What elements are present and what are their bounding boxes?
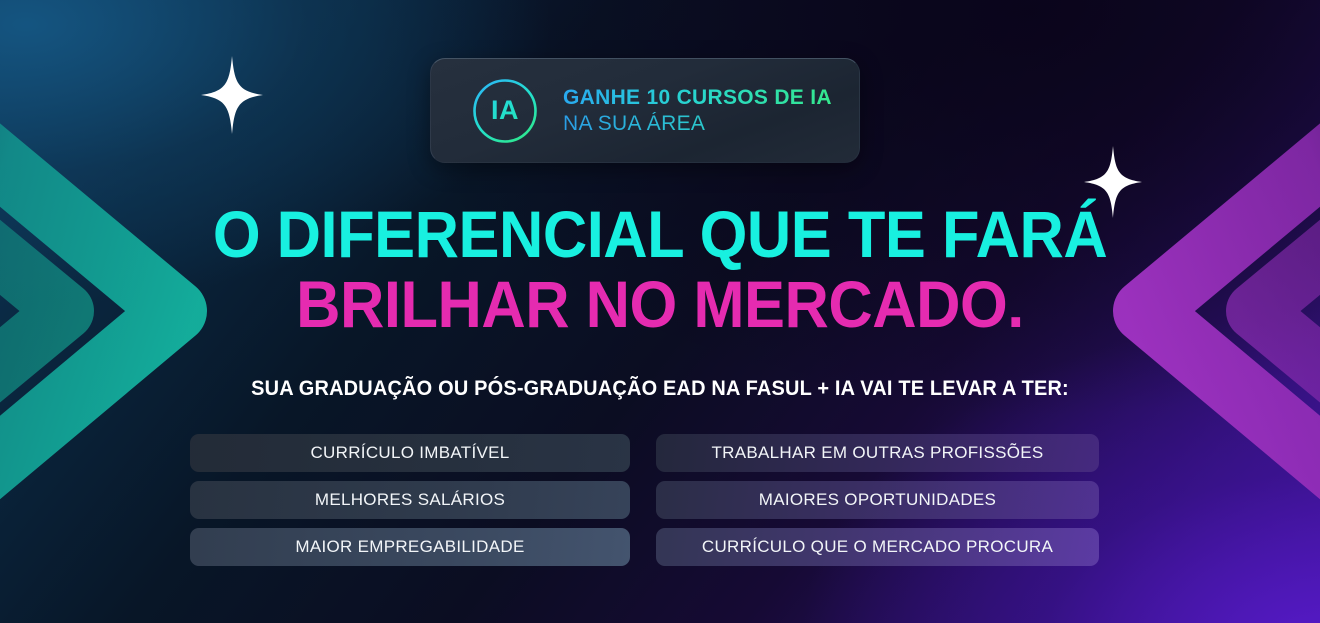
benefit-pill: MAIOR EMPREGABILIDADE [190,528,630,566]
main-headline: O DIFERENCIAL QUE TE FARÁ BRILHAR NO MER… [0,199,1320,339]
benefit-label: MAIORES OPORTUNIDADES [759,490,996,510]
ia-circle-label: IA [472,78,538,144]
benefit-pill: CURRÍCULO IMBATÍVEL [190,434,630,472]
badge-text-block: GANHE 10 CURSOS DE IA NA SUA ÁREA [563,86,832,135]
headline-line-2: BRILHAR NO MERCADO. [46,269,1274,339]
benefit-pill: CURRÍCULO QUE O MERCADO PROCURA [656,528,1099,566]
sparkle-icon-left [201,56,263,134]
benefit-label: TRABALHAR EM OUTRAS PROFISSÕES [711,443,1043,463]
badge-subline: NA SUA ÁREA [563,112,832,136]
benefit-label: MAIOR EMPREGABILIDADE [295,537,524,557]
promo-banner: IA GANHE 10 CURSOS DE IA NA SUA ÁREA O D… [0,0,1320,623]
benefit-pill: MELHORES SALÁRIOS [190,481,630,519]
ai-courses-badge: IA GANHE 10 CURSOS DE IA NA SUA ÁREA [430,58,860,163]
headline-line-1: O DIFERENCIAL QUE TE FARÁ [46,199,1274,269]
benefit-label: CURRÍCULO QUE O MERCADO PROCURA [702,537,1053,557]
badge-headline: GANHE 10 CURSOS DE IA [563,86,832,110]
benefit-pill: MAIORES OPORTUNIDADES [656,481,1099,519]
benefits-right-column: TRABALHAR EM OUTRAS PROFISSÕES MAIORES O… [656,434,1099,566]
subheadline: SUA GRADUAÇÃO OU PÓS-GRADUAÇÃO EAD NA FA… [33,377,1287,401]
benefit-label: MELHORES SALÁRIOS [315,490,505,510]
benefit-pill: TRABALHAR EM OUTRAS PROFISSÕES [656,434,1099,472]
benefit-label: CURRÍCULO IMBATÍVEL [310,443,509,463]
ia-circle-icon: IA [472,78,538,144]
benefits-left-column: CURRÍCULO IMBATÍVEL MELHORES SALÁRIOS MA… [190,434,630,566]
